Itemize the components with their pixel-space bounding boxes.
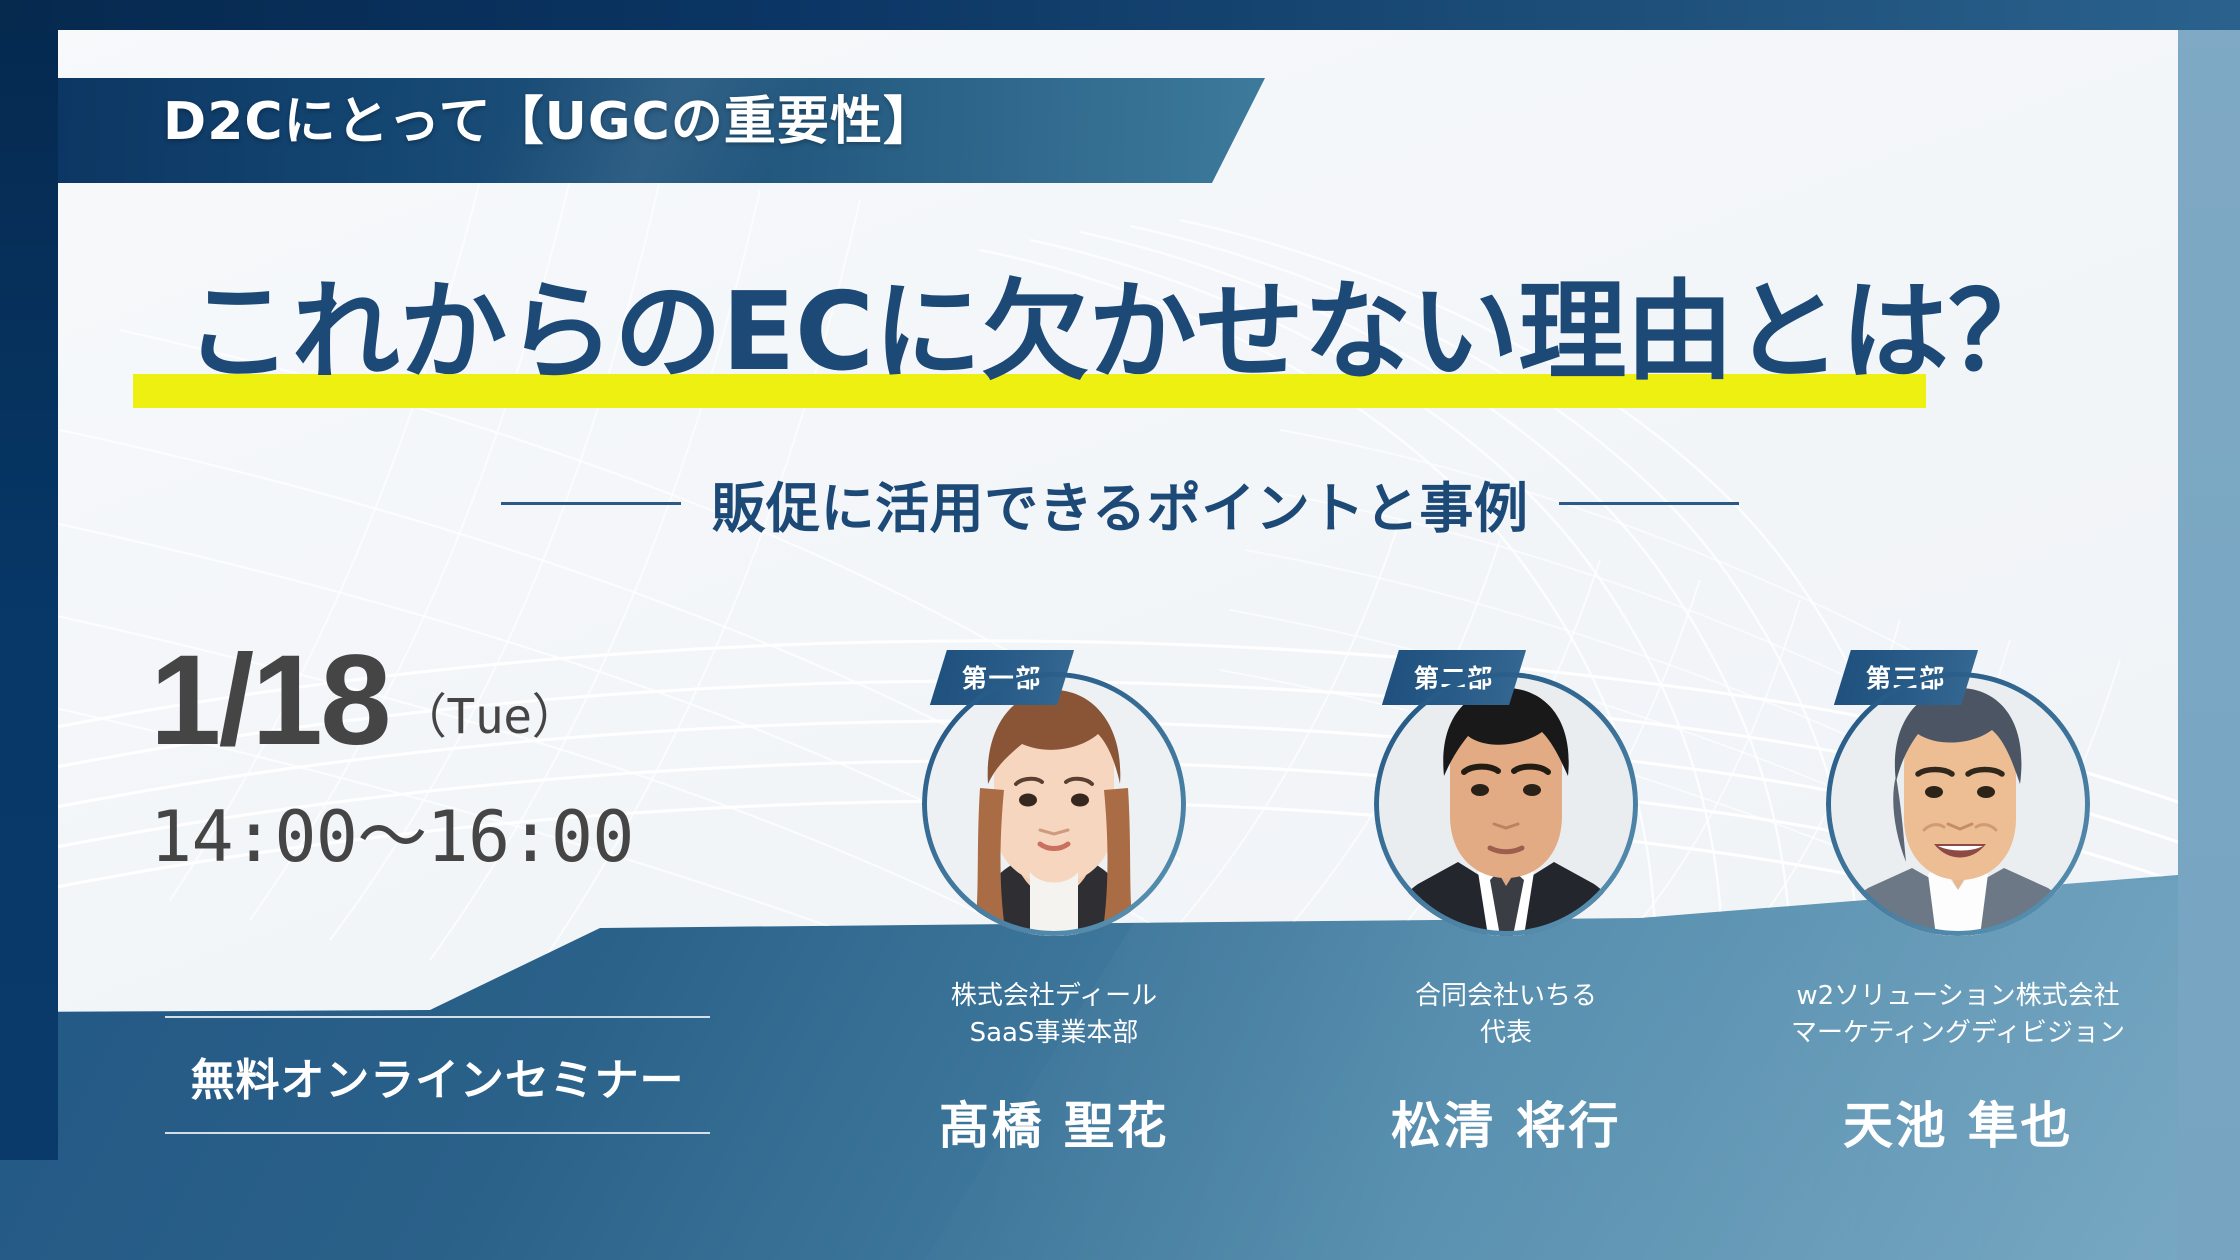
- speaker-card-1: 第一部: [828, 650, 1280, 1230]
- speaker-1-name: 髙橋 聖花: [828, 1086, 1280, 1158]
- event-time: 14:00〜16:00: [150, 781, 634, 882]
- speaker-1-badge-label: 第一部: [962, 664, 1042, 693]
- speaker-2-badge: 第二部: [1382, 650, 1526, 705]
- free-seminar-block: 無料オンラインセミナー: [165, 1016, 710, 1134]
- subtitle-block: 販促に活用できるポイントと事例: [0, 472, 2240, 534]
- free-seminar-label: 無料オンラインセミナー: [165, 1018, 710, 1132]
- speaker-1-avatar: [922, 672, 1186, 936]
- speaker-3-org: w2ソリューション株式会社 マーケティングディビジョン: [1732, 978, 2184, 1052]
- speaker-2-org: 合同会社いちる 代表: [1280, 978, 1732, 1052]
- speaker-2-org-line1: 合同会社いちる: [1280, 978, 1732, 1015]
- speaker-3-badge: 第三部: [1834, 650, 1978, 705]
- event-date-block: 1/18 （Tue） 14:00〜16:00: [150, 640, 634, 882]
- event-date: 1/18: [150, 640, 389, 763]
- speaker-card-3: 第三部: [1732, 650, 2184, 1230]
- speaker-3-name: 天池 隼也: [1732, 1086, 2184, 1158]
- left-accent-rail: [0, 0, 58, 1160]
- speaker-list: 第一部: [828, 650, 2184, 1230]
- event-date-row: 1/18 （Tue）: [150, 640, 634, 763]
- webinar-banner: D2Cにとって【UGCの重要性】 これからのECに欠かせない理由とは？ 販促に活…: [0, 0, 2240, 1260]
- headline-block: これからのECに欠かせない理由とは？: [0, 270, 2240, 400]
- speaker-1-badge: 第一部: [930, 650, 1074, 705]
- speaker-3-badge-label: 第三部: [1866, 664, 1946, 693]
- speaker-2-badge-label: 第二部: [1414, 664, 1494, 693]
- avatar-photo-female-icon: [922, 672, 1186, 936]
- speaker-1-org-line2: SaaS事業本部: [828, 1015, 1280, 1052]
- subtitle-text: 販促に活用できるポイントと事例: [711, 464, 1528, 543]
- speaker-card-2: 第二部: [1280, 650, 1732, 1230]
- subtitle-rule-right: [1559, 502, 1739, 505]
- speaker-1-org: 株式会社ディール SaaS事業本部: [828, 978, 1280, 1052]
- speaker-1-org-line1: 株式会社ディール: [828, 978, 1280, 1015]
- top-accent-strip: [0, 0, 2240, 30]
- ribbon-label: D2Cにとって【UGCの重要性】: [163, 96, 936, 148]
- speaker-2-avatar: [1374, 672, 1638, 936]
- speaker-3-avatar: [1826, 672, 2090, 936]
- speaker-3-org-line1: w2ソリューション株式会社: [1732, 978, 2184, 1015]
- right-accent-rail: [2178, 0, 2240, 1260]
- free-seminar-rule-bottom: [165, 1132, 710, 1134]
- subtitle-rule-left: [501, 502, 681, 505]
- speaker-2-org-line2: 代表: [1280, 1015, 1732, 1052]
- speaker-2-name: 松清 将行: [1280, 1086, 1732, 1158]
- event-day-of-week: （Tue）: [399, 677, 579, 763]
- speaker-3-org-line2: マーケティングディビジョン: [1732, 1015, 2184, 1052]
- avatar-photo-male-smiling-icon: [1826, 672, 2090, 936]
- page-title: これからのECに欠かせない理由とは？: [0, 270, 2240, 395]
- avatar-photo-male-suit-icon: [1374, 672, 1638, 936]
